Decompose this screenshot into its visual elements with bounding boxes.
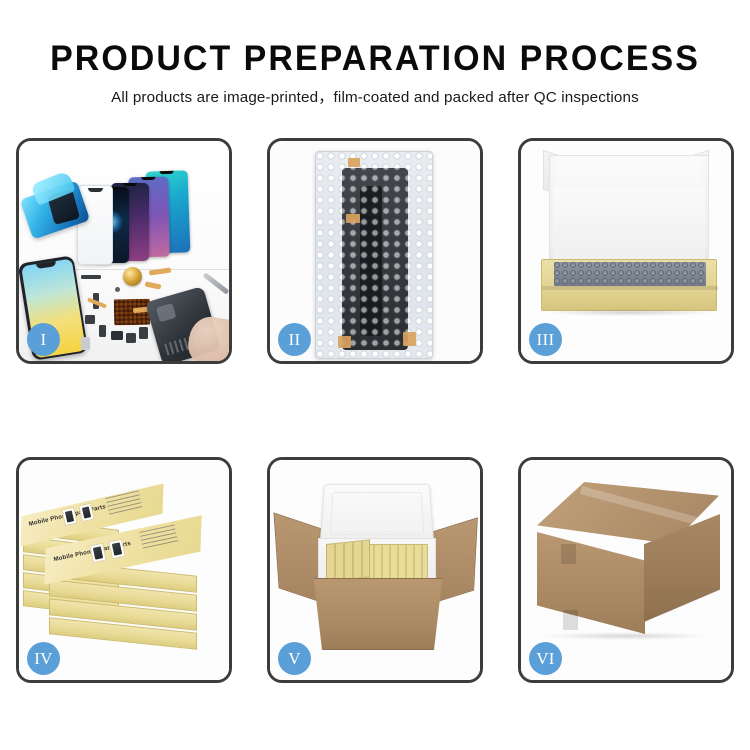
notch-icon (160, 171, 174, 174)
component-icon (126, 333, 136, 343)
tape-icon (338, 336, 351, 348)
process-step-card-2: II (267, 138, 483, 364)
component-icon (111, 331, 123, 340)
page-subtitle: All products are image-printed，film-coat… (0, 88, 750, 108)
drop-shadow (543, 632, 711, 640)
step-badge-6: VI (529, 642, 562, 675)
shipping-carton-body (308, 578, 448, 650)
notch-icon (123, 183, 137, 186)
kraft-box-base-icon (541, 259, 717, 311)
display-flex-strip (360, 186, 382, 336)
tape-icon (346, 214, 360, 223)
component-icon (85, 315, 95, 324)
header: PRODUCT PREPARATION PROCESS All products… (0, 38, 750, 108)
component-icon (139, 327, 148, 339)
step-badge-1: I (27, 323, 60, 356)
foam-sheet-icon (553, 189, 705, 261)
drop-shadow (545, 309, 713, 316)
step-badge-3: III (529, 323, 562, 356)
process-step-card-5: V (267, 457, 483, 683)
tape-icon (348, 158, 360, 167)
retail-boxes-inside-icon (326, 539, 370, 582)
infographic-page: PRODUCT PREPARATION PROCESS All products… (0, 0, 750, 750)
component-icon (99, 325, 106, 337)
process-step-card-6: VI (518, 457, 734, 683)
step-badge-5: V (278, 642, 311, 675)
process-step-card-1: I (16, 138, 232, 364)
page-title: PRODUCT PREPARATION PROCESS (11, 38, 739, 80)
screw-icon (115, 287, 120, 292)
tape-icon (403, 332, 416, 346)
foam-box-lid-icon (320, 484, 435, 545)
carton-flap-tab (563, 610, 578, 630)
step-badge-2: II (278, 323, 311, 356)
box-lip (542, 286, 718, 290)
retail-box-stack-icon: Mobile Phone Spare Parts Mobile Phone Sp… (21, 484, 229, 662)
bubble-wrapped-contents (554, 262, 706, 286)
speaker-module-icon (123, 267, 142, 286)
step-badge-4: IV (27, 642, 60, 675)
component-icon (81, 337, 90, 350)
process-step-card-4: Mobile Phone Spare Parts Mobile Phone Sp… (16, 457, 232, 683)
process-step-card-3: III (518, 138, 734, 364)
bubble-wrap-bag-icon (315, 151, 433, 359)
component-icon (81, 275, 101, 279)
notch-icon (141, 177, 155, 180)
process-steps-grid: I II (16, 138, 734, 683)
carton-flap-tab (561, 544, 576, 564)
